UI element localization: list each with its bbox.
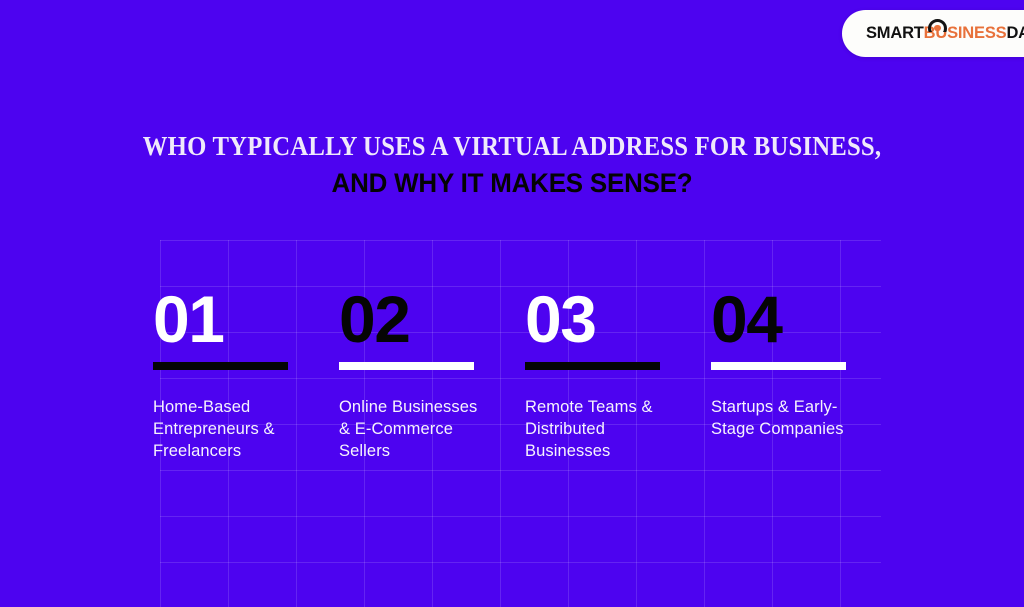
list-item: 02 Online Businesses & E-Commerce Seller… [339,283,525,462]
infographic-canvas: SMARTBUSINESSDAILY WHO TYPICALLY USES A … [0,0,1024,607]
brand-logo[interactable]: SMARTBUSINESSDAILY [842,10,1024,57]
item-divider-bar [153,362,288,370]
list-item: 03 Remote Teams & Distributed Businesses [525,283,711,462]
item-number: 03 [525,283,711,355]
title-line-2: AND WHY IT MAKES SENSE? [20,167,1003,199]
item-number: 01 [153,283,339,355]
item-label: Home-Based Entrepreneurs & Freelancers [153,396,318,462]
item-divider-bar [711,362,846,370]
pin-dot [934,25,940,31]
location-pin-icon [928,19,947,32]
title-line-1: WHO TYPICALLY USES A VIRTUAL ADDRESS FOR… [51,129,973,163]
item-divider-bar [525,362,660,370]
page-title: WHO TYPICALLY USES A VIRTUAL ADDRESS FOR… [0,129,1024,199]
list-item: 01 Home-Based Entrepreneurs & Freelancer… [153,283,339,462]
item-label: Startups & Early- Stage Companies [711,396,876,440]
item-label: Remote Teams & Distributed Businesses [525,396,690,462]
item-number: 04 [711,283,897,355]
logo-text-daily: DAILY [1006,25,1024,42]
item-divider-bar [339,362,474,370]
item-label: Online Businesses & E-Commerce Sellers [339,396,504,462]
items-row: 01 Home-Based Entrepreneurs & Freelancer… [153,283,953,462]
logo-wordmark: SMARTBUSINESSDAILY [866,10,1024,57]
item-number: 02 [339,283,525,355]
list-item: 04 Startups & Early- Stage Companies [711,283,897,462]
logo-text-smart: SMART [866,25,924,42]
